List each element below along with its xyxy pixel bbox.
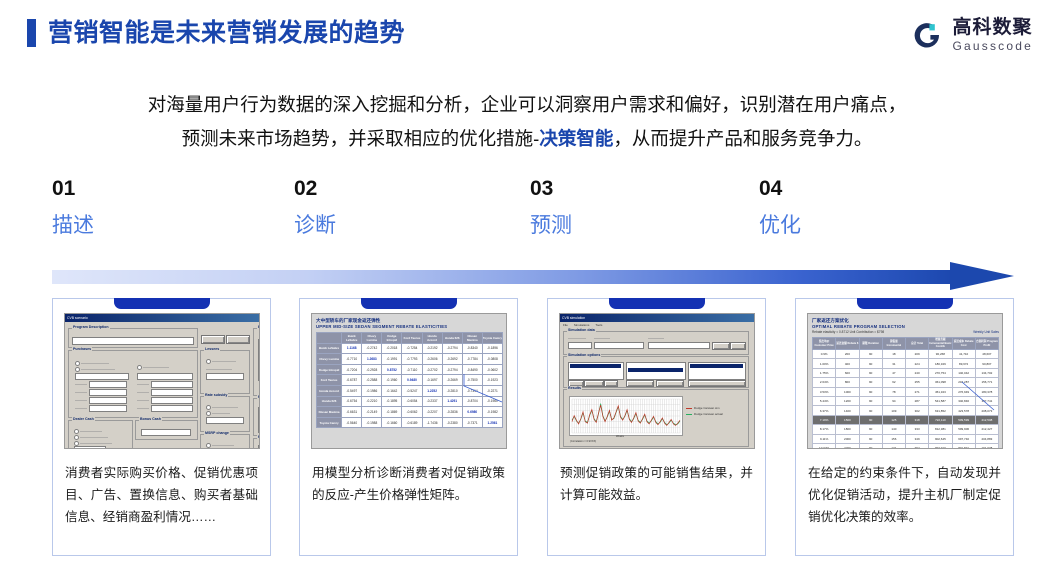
matrix-cell: 1.1168 (342, 343, 362, 354)
optimal-cell: 90 (859, 387, 882, 396)
optimal-cell: 801,871 (952, 443, 975, 449)
matrix-cell: 0.6980 (462, 407, 482, 418)
optimal-cell: 6.37% (813, 406, 836, 415)
optimal-cell: 200 (836, 350, 859, 359)
matrix-cell: 0.9480 (402, 375, 422, 386)
matrix-cell: -0.7784 (462, 354, 482, 365)
gausscode-logo-icon (910, 18, 944, 52)
matrix-cell: -0.5640 (342, 417, 362, 428)
close-button[interactable] (226, 335, 250, 344)
matrix-cell: -0.6189 (402, 417, 422, 428)
optimal-cell: 156,771 (975, 378, 998, 387)
group-label: Bonus Cash (139, 417, 162, 421)
table-row: 1.75%6009047240270,754140,042134,702 (813, 368, 999, 377)
matrix-col-header: Nissan Maxima (462, 333, 482, 344)
optimal-cell: 812,381 (929, 425, 952, 434)
dialog-titlebar: CVB scenario (65, 314, 259, 322)
optimal-cell: 134,702 (975, 368, 998, 377)
table-row: 6.37%140090109302631,852423,578208,073 (813, 406, 999, 415)
optimal-cell: 31 (882, 359, 905, 368)
table-row: 3.53%10009078271451,323276,949180,378 (813, 387, 999, 396)
optimal-cell: 722,110 (929, 415, 952, 424)
optimal-cell: 364 (906, 443, 929, 449)
step-04-number: 04 (759, 176, 939, 202)
brand-name-en: Gausscode (952, 40, 1033, 52)
matrix-cell: 1.2561 (482, 417, 502, 428)
brand-name-cn: 高科数聚 (952, 18, 1033, 37)
optimal-cell: 90 (859, 425, 882, 434)
matrix-cell: -0.7500 (462, 375, 482, 386)
group-label: Simulation options (567, 353, 601, 357)
optimal-cell: 90,268 (929, 350, 952, 359)
group-rebase-incentives: Rebase incentives (253, 438, 260, 449)
rate-subsidy-input[interactable] (206, 417, 244, 424)
table-row: 2.64%8009062255361,098204,287156,771 (813, 378, 999, 387)
intro-line-2-b: ，从而提升产品和服务竞争力。 (613, 128, 872, 149)
chart-footnote: (Correlation = 0.9XXX) (570, 440, 596, 443)
matrix-cell: -0.1988 (362, 417, 382, 428)
table-row: Honda 626-0.6754-0.2210-0.1895-0.6054-0.… (317, 396, 503, 407)
group-label: Results (567, 386, 582, 390)
intro-line-1: 对海量用户行为数据的深入挖掘和分析，企业可以洞察用户需求和偏好，识别潜在用户痛点… (52, 88, 1002, 122)
table-row: Nissan Maxima-0.6631-0.2149-0.1869-0.606… (317, 407, 503, 418)
optimal-cell: 209 (906, 350, 929, 359)
matrix-cell: -0.6787 (342, 375, 362, 386)
optimal-cell: 541,587 (929, 396, 952, 405)
optimal-cell: 180,329 (929, 359, 952, 368)
optimal-cell: 140 (882, 425, 905, 434)
optimal-cell: 8.17% (813, 425, 836, 434)
optimal-col-header: 期限 Duration (859, 338, 882, 350)
optimal-cell: 631,852 (929, 406, 952, 415)
optimal-cell: 276,949 (952, 387, 975, 396)
group-rate-subsidy: Rate subsidy (200, 396, 250, 432)
term-24-input[interactable] (89, 381, 127, 388)
matrix-cell: 0.8752 (382, 364, 402, 375)
table-row: 8.17%180090140333812,381599,906212,427 (813, 425, 999, 434)
legend-swatch-actual (686, 414, 692, 415)
matrix-title-en: UPPER MID-SIZE SEDAN SEGMENT REBATE ELAS… (316, 324, 503, 330)
group-results: Results Dodge Caravan sim Dodge Caravan … (563, 389, 749, 447)
matrix-cell: -0.7371 (462, 417, 482, 428)
matrix-cell: -0.2794 (442, 364, 462, 375)
matrix-cell: -0.2794 (442, 343, 462, 354)
matrix-cell: 1.2252 (422, 385, 442, 396)
optimal-cell: 287 (906, 396, 929, 405)
matrix-cell: -0.2337 (422, 396, 442, 407)
page-title-wrap: 营销智能是未来营销发展的趋势 (27, 19, 405, 47)
optimal-cell: 9.11% (813, 434, 836, 443)
group-label: Dealer Cash (72, 417, 95, 421)
matrix-cell: -0.0808 (482, 354, 502, 365)
group-label: Base incentives (257, 325, 260, 329)
optimal-col-header: 销售量 Incremental (882, 338, 905, 350)
card-row: CVB scenario Program Description Purchas… (52, 298, 1014, 560)
optimal-cell: 140,042 (952, 368, 975, 377)
optimal-cell: 2000 (836, 434, 859, 443)
optimal-col-header: 方案利润 Program Profit (975, 338, 998, 350)
intro-highlight: 决策智能 (539, 128, 613, 149)
rate-24-input[interactable] (151, 381, 193, 388)
matrix-cell: -0.7110 (402, 364, 422, 375)
optimal-cell: 191,038 (975, 443, 998, 449)
brand-logo: 高科数聚 Gausscode (910, 18, 1033, 52)
card-describe-text: 消费者实际购买价格、促销优惠项目、广告、置换信息、购买者基础信息、经销商盈利情况… (65, 462, 258, 528)
intro-line-2-a: 预测未来市场趋势，并采取相应的优化措施- (182, 128, 540, 149)
legend-label-actual: Dodge Caravan actual (694, 412, 723, 416)
optimal-cell: 271 (906, 387, 929, 396)
optimal-col-header: 返还成本 Rebate Cost (952, 338, 975, 350)
rate-48-input[interactable] (151, 397, 193, 404)
group-label: Rate subsidy (204, 393, 228, 397)
group-simulation-options: Simulation options (563, 356, 749, 388)
matrix-row-header: Buick LeSabre (317, 343, 342, 354)
matrix-cell: -0.2810 (442, 385, 462, 396)
screenshot-simulation: CVB simulation File Simulations Tools Si… (559, 313, 755, 449)
matrix-cell: -0.0602 (482, 364, 502, 375)
optimal-cell: 333 (906, 425, 929, 434)
simulation-chart (569, 396, 683, 436)
optimal-cell: 340,846 (952, 396, 975, 405)
matrix-cell: -0.2692 (442, 354, 462, 365)
optimal-cell: 18 (882, 350, 905, 359)
intro-line-2: 预测未来市场趋势，并采取相应的优化措施-决策智能，从而提升产品和服务竞争力。 (52, 122, 1002, 156)
table-row: Chevy Lumina-0.77101.2683-0.1991-0.7793-… (317, 354, 503, 365)
matrix-cell: -0.5497 (342, 385, 362, 396)
group-dealer-cash: Dealer Cash (68, 420, 133, 449)
optimal-cell: 90 (859, 378, 882, 387)
rate-60-input[interactable] (151, 405, 193, 412)
sim-clear-all-button[interactable] (656, 380, 684, 387)
menu-tools[interactable]: Tools (595, 323, 602, 327)
optimal-cell: 992,910 (929, 443, 952, 449)
table-row: 10.02%220090171364992,910801,871191,038 (813, 443, 999, 449)
remove-button[interactable] (584, 380, 604, 387)
legend-swatch-sim (686, 408, 692, 409)
group-program-description: Program Description (68, 328, 198, 348)
table-row: 9.11%200090156349902,645697,740204,883 (813, 434, 999, 443)
sim-title: CVB simulation (562, 314, 585, 322)
lessee-select[interactable] (206, 373, 244, 380)
step-01: 01 描述 (52, 176, 232, 241)
group-bonus-cash: Bonus Cash (135, 420, 198, 440)
table-row: 5.44%12009094287541,587340,846197,741 (813, 396, 999, 405)
step-02-number: 02 (294, 176, 474, 202)
optimal-cell: 48,607 (975, 350, 998, 359)
table-row: Dodge Intrepid-0.7204-0.29280.8752-0.711… (317, 364, 503, 375)
group-purchases: Purchases (68, 350, 198, 418)
optimal-cell: 204,287 (952, 378, 975, 387)
matrix-cell: -0.6754 (342, 396, 362, 407)
matrix-row-header: Ford Taurus (317, 375, 342, 386)
step-04-label: 优化 (759, 211, 939, 241)
group-label: Program Description (72, 325, 110, 329)
matrix-cell: -0.2669 (442, 375, 462, 386)
optimal-cell: 0.9% (813, 350, 836, 359)
rate-36-input[interactable] (151, 389, 193, 396)
matrix-cell: -0.5247 (402, 385, 422, 396)
matrix-cell: -0.7710 (342, 354, 362, 365)
matrix-header-row: Buick LeSabreChevy LuminaDodge IntrepidF… (317, 333, 503, 344)
dialog-body: Program Description Purchases (65, 322, 259, 448)
optimal-cell: 2200 (836, 443, 859, 449)
step-03: 03 预测 (530, 176, 710, 241)
scenario-list[interactable] (568, 362, 624, 380)
optimal-cell: 90 (859, 443, 882, 449)
optimal-cell: 197,741 (975, 396, 998, 405)
optimal-cell: 180,378 (975, 387, 998, 396)
chart-xlabel: Weeks (616, 435, 624, 438)
table-row: Toyota Camry-0.5640-0.1988-0.1660-0.6189… (317, 417, 503, 428)
optimal-cell: 125 (882, 415, 905, 424)
matrix-cell: -0.2192 (422, 343, 442, 354)
optimal-cell: 212,427 (975, 425, 998, 434)
group-label: Lessees (204, 347, 220, 351)
intro-paragraph: 对海量用户行为数据的深入挖掘和分析，企业可以洞察用户需求和偏好，识别潜在用户痛点… (52, 88, 1002, 156)
group-simulation-data: Simulation data (563, 331, 749, 355)
optimal-cell: 423,578 (952, 406, 975, 415)
optimal-cell: 697,740 (952, 434, 975, 443)
term-60-input[interactable] (89, 405, 127, 412)
menu-simulations[interactable]: Simulations (574, 323, 590, 327)
matrix-cell: -0.2836 (442, 407, 462, 418)
optimal-col-header: 返还金额 Rebate $ (836, 338, 859, 350)
matrix-col-header: Buick LeSabre (342, 333, 362, 344)
card-tab (361, 298, 457, 309)
matrix-cell: -1.7436 (422, 417, 442, 428)
step-labels: 01 描述 02 诊断 03 预测 04 优化 (52, 176, 1012, 246)
step-02: 02 诊断 (294, 176, 474, 241)
matrix-cell: -0.6054 (402, 396, 422, 407)
matrix-row-header: Nissan Maxima (317, 407, 342, 418)
elasticity-matrix-table: Buick LeSabreChevy LuminaDodge IntrepidF… (316, 332, 503, 428)
optimal-cell: 270,754 (929, 368, 952, 377)
matrix-cell: -0.2210 (362, 396, 382, 407)
optimal-cell: 1800 (836, 425, 859, 434)
step-01-number: 01 (52, 176, 232, 202)
matrix-cell: -0.2271 (482, 385, 502, 396)
group-lessees: Lessees (200, 350, 250, 394)
matrix-cell: -0.7793 (402, 354, 422, 365)
graph-button[interactable] (688, 380, 746, 387)
optimal-cell: 599,906 (952, 425, 975, 434)
optimal-header-row: 售出均价 Customer Price返还金额 Rebate $期限 Durat… (813, 338, 999, 350)
group-base-incentives: Base incentives (253, 328, 260, 396)
matrix-row-header: Honda 626 (317, 396, 342, 407)
edit-button[interactable] (604, 380, 618, 387)
term-36-input[interactable] (89, 389, 127, 396)
optimal-cell: 156 (882, 434, 905, 443)
optimal-col-header: 售出均价 Customer Price (813, 338, 836, 350)
optimal-cell: 204,883 (975, 434, 998, 443)
matrix-cell: -0.2742 (362, 343, 382, 354)
optimal-cell: 109 (882, 406, 905, 415)
matrix-cell: -0.8490 (462, 364, 482, 375)
matrix-cell: -0.7314 (462, 385, 482, 396)
optimal-cell: 451,323 (929, 387, 952, 396)
optimal-cell: 255 (906, 378, 929, 387)
matrix-cell: -0.1991 (382, 354, 402, 365)
group-label: Rebase incentives (257, 435, 260, 439)
card-tab (857, 298, 953, 309)
matrix-cell: -0.1869 (382, 407, 402, 418)
brand-wordmark: 高科数聚 Gausscode (952, 18, 1033, 52)
matrix-cell: -0.2588 (362, 375, 382, 386)
matrix-cell: -0.2380 (442, 417, 462, 428)
matrix-cell: -0.2018 (382, 343, 402, 354)
optimal-cell: 3.53% (813, 387, 836, 396)
segment-select[interactable] (594, 342, 644, 349)
card-diagnose-text: 用模型分析诊断消费者对促销政策的反应-产生价格弹性矩阵。 (312, 462, 505, 506)
optimal-cell: 90 (859, 396, 882, 405)
card-diagnose[interactable]: 大中型轿车的厂家现金返还弹性 UPPER MID-SIZE SEDAN SEGM… (299, 298, 518, 556)
optimal-cell: 90 (859, 434, 882, 443)
matrix-row-header: Dodge Intrepid (317, 364, 342, 375)
optimal-cell: 318 (906, 415, 929, 424)
optimal-cell: 212,508 (975, 415, 998, 424)
optimal-cell: 224 (906, 359, 929, 368)
card-optimize[interactable]: 厂家返还方案优化 OPTIMAL REBATE PROGRAM SELECTIO… (795, 298, 1014, 556)
matrix-col-header: Honda Accord (422, 333, 442, 344)
optimal-cell: 1.00% (813, 359, 836, 368)
optimal-cell: 10.02% (813, 443, 836, 449)
matrix-cell: 1.2683 (362, 354, 382, 365)
matrix-cell: -0.1960 (382, 375, 402, 386)
matrix-cell: -0.8704 (462, 396, 482, 407)
matrix-cell: 1.4291 (442, 396, 462, 407)
optimal-col-header: 增量贡献 Incremental Basic Contrib (929, 338, 952, 350)
matrix-col-header: Dodge Intrepid (382, 333, 402, 344)
optimal-cell: 90 (859, 350, 882, 359)
matrix-row-header: Chevy Lumina (317, 354, 342, 365)
table-row: Ford Taurus-0.6787-0.2588-0.19600.9480-0… (317, 375, 503, 386)
legend-label-sim: Dodge Caravan sim (694, 406, 720, 410)
matrix-cell: -0.2149 (362, 407, 382, 418)
optimal-cell: 1500 (836, 415, 859, 424)
matrix-cell: -0.1642 (382, 385, 402, 396)
optimal-cell: 90 (859, 415, 882, 424)
menu-file[interactable]: File (563, 323, 568, 327)
matrix-cell: -0.8340 (462, 343, 482, 354)
group-regions: Region(s) (253, 398, 260, 436)
table-row: 7.19%150090125318722,110509,599212,508 (813, 415, 999, 424)
optimal-cell: 208,073 (975, 406, 998, 415)
card-describe[interactable]: CVB scenario Program Description Purchas… (52, 298, 271, 556)
optimal-cell: 171 (882, 443, 905, 449)
optimal-rebate-table: 售出均价 Customer Price返还金额 Rebate $期限 Durat… (812, 337, 999, 449)
run-sim-button[interactable] (712, 342, 730, 350)
sim-select-all-button[interactable] (626, 380, 654, 387)
optimal-cell: 90,807 (975, 359, 998, 368)
optimal-corner-note: Weekly Unit Sales (973, 330, 999, 335)
table-row: 0.9%200901820990,26841,71048,607 (813, 350, 999, 359)
matrix-cell: -0.2207 (422, 407, 442, 418)
optimal-cell: 1000 (836, 387, 859, 396)
rebase-model-select[interactable] (258, 445, 260, 449)
optimal-cell: 902,645 (929, 434, 952, 443)
optimal-cell: 2.64% (813, 378, 836, 387)
matrix-row-header: Toyota Camry (317, 417, 342, 428)
region-list[interactable] (258, 407, 260, 433)
optimal-cell: 509,599 (952, 415, 975, 424)
stop-sim-button[interactable] (730, 342, 746, 350)
optimal-cell: 90 (859, 359, 882, 368)
matrix-col-header: Toyota Camry (482, 333, 502, 344)
matrix-cell: -0.2702 (422, 364, 442, 375)
page-title: 营销智能是未来营销发展的趋势 (48, 21, 405, 46)
matrix-cell: -0.7204 (342, 364, 362, 375)
optimal-subtitle: Rebate elasticity = 0.8712 Unit Contribu… (812, 330, 884, 335)
page-header: 营销智能是未来营销发展的趋势 高科数聚 Gausscode (0, 0, 1051, 74)
model-select-list[interactable] (626, 362, 686, 380)
matrix-cell: -0.1960 (482, 396, 502, 407)
chart-svg (570, 397, 682, 435)
dealer-cash-input[interactable] (74, 446, 106, 449)
card-optimize-text: 在给定的约束条件下，自动发现并优化促销活动，提升主机厂制定促销优化决策的效率。 (808, 462, 1001, 528)
sim-menubar[interactable]: File Simulations Tools (563, 323, 602, 327)
display-options-list[interactable] (688, 362, 746, 380)
optimal-cell: 240 (906, 368, 929, 377)
optimal-cell: 800 (836, 378, 859, 387)
optimal-cell: 361,098 (929, 378, 952, 387)
step-02-label: 诊断 (294, 211, 474, 241)
matrix-cell: -0.1986 (362, 385, 382, 396)
screenshot-elasticity-matrix: 大中型轿车的厂家现金返还弹性 UPPER MID-SIZE SEDAN SEGM… (311, 313, 507, 449)
arrow-bar (52, 270, 964, 284)
optimal-cell: 90 (859, 368, 882, 377)
card-predict-text: 预测促销政策的可能销售结果，并计算可能效益。 (560, 462, 753, 506)
card-predict[interactable]: CVB simulation File Simulations Tools Si… (547, 298, 766, 556)
optimal-cell: 90 (859, 406, 882, 415)
matrix-row-header: Honda Accord (317, 385, 342, 396)
optimal-cell: 47 (882, 368, 905, 377)
table-row: Honda Accord-0.5497-0.1986-0.1642-0.5247… (317, 385, 503, 396)
sim-titlebar: CVB simulation (560, 314, 754, 322)
rebate-apr-select[interactable] (137, 373, 193, 380)
optimal-cell: 1.75% (813, 368, 836, 377)
optimal-cell: 89,672 (952, 359, 975, 368)
optimal-cell: 94 (882, 396, 905, 405)
save-button[interactable] (201, 335, 225, 344)
step-03-label: 预测 (530, 211, 710, 241)
program-description-input[interactable] (72, 337, 194, 345)
optimal-cell: 78 (882, 387, 905, 396)
matrix-cell: -0.1896 (482, 343, 502, 354)
matrix-cell: -0.7254 (402, 343, 422, 354)
step-03-number: 03 (530, 176, 710, 202)
matrix-cell: -0.1923 (482, 375, 502, 386)
matrix-col-header: Chevy Lumina (362, 333, 382, 344)
optimal-cell: 5.44% (813, 396, 836, 405)
dialog-title: CVB scenario (67, 314, 88, 322)
group-msrp-change: MSRP change (200, 434, 250, 449)
matrix-cell: -0.1697 (422, 375, 442, 386)
purchase-select[interactable] (75, 373, 129, 380)
group-label: Region(s) (257, 395, 260, 399)
group-label: Simulation data (567, 328, 596, 332)
optimal-cell: 1400 (836, 406, 859, 415)
card-tab (609, 298, 705, 309)
region-select[interactable] (648, 342, 710, 349)
screenshot-program-dialog: CVB scenario Program Description Purchas… (64, 313, 260, 449)
term-48-input[interactable] (89, 397, 127, 404)
optimal-col-header: 总计 Total (906, 338, 929, 350)
model-list[interactable] (258, 339, 260, 381)
progress-arrow (52, 262, 1014, 290)
bonus-cash-input[interactable] (141, 429, 191, 436)
screenshot-optimal-rebate: 厂家返还方案优化 OPTIMAL REBATE PROGRAM SELECTIO… (807, 313, 1003, 449)
model-class-select[interactable] (568, 342, 592, 349)
